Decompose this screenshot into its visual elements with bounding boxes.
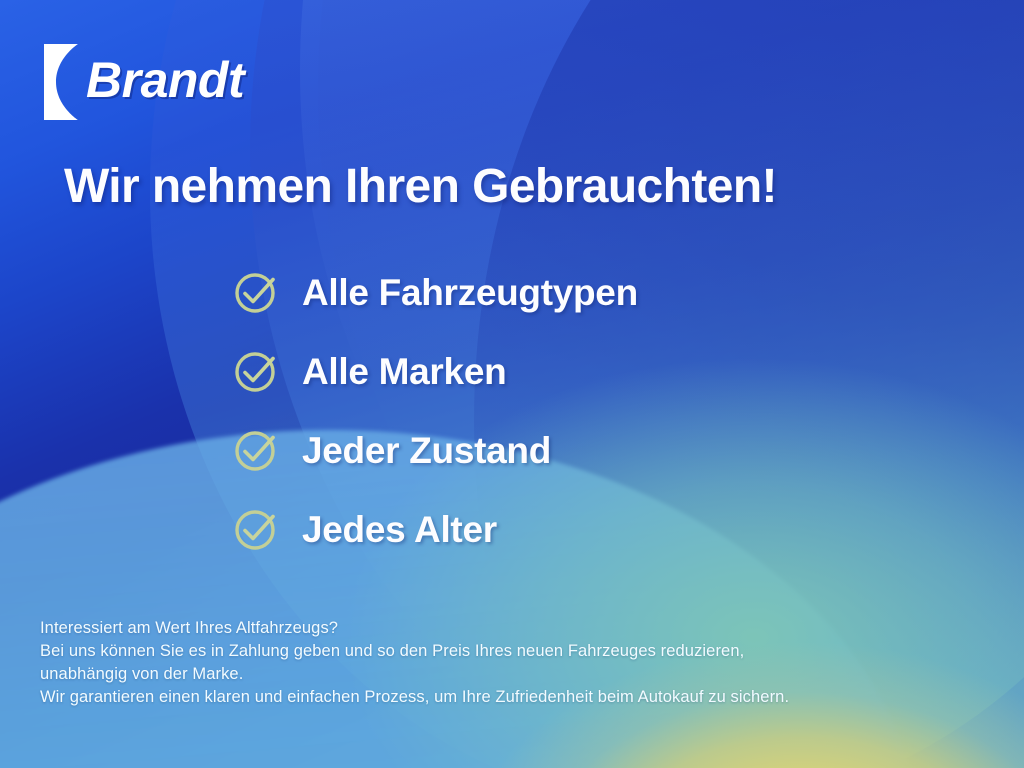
- list-item: Jeder Zustand: [232, 424, 638, 476]
- list-item: Jedes Alter: [232, 503, 638, 555]
- check-circle-icon: [232, 347, 280, 395]
- benefits-list: Alle Fahrzeugtypen Alle Marken Jeder Zus…: [232, 266, 638, 555]
- banner-content: Brandt Wir nehmen Ihren Gebrauchten! All…: [0, 0, 1024, 768]
- page-title: Wir nehmen Ihren Gebrauchten!: [64, 163, 777, 211]
- brand-name: Brandt: [86, 55, 244, 105]
- list-item-label: Alle Marken: [302, 353, 506, 390]
- description-line: unabhängig von der Marke.: [40, 663, 940, 686]
- description-text: Interessiert am Wert Ihres Altfahrzeugs?…: [40, 617, 940, 709]
- brand-logo[interactable]: Brandt: [44, 44, 244, 120]
- check-circle-icon: [232, 268, 280, 316]
- brandt-crescent-mark-icon: [44, 44, 80, 120]
- list-item: Alle Fahrzeugtypen: [232, 266, 638, 318]
- list-item-label: Alle Fahrzeugtypen: [302, 274, 638, 311]
- description-line: Wir garantieren einen klaren und einfach…: [40, 686, 940, 709]
- list-item-label: Jeder Zustand: [302, 432, 551, 469]
- list-item: Alle Marken: [232, 345, 638, 397]
- list-item-label: Jedes Alter: [302, 511, 497, 548]
- check-circle-icon: [232, 505, 280, 553]
- description-line: Bei uns können Sie es in Zahlung geben u…: [40, 640, 940, 663]
- check-circle-icon: [232, 426, 280, 474]
- description-line: Interessiert am Wert Ihres Altfahrzeugs?: [40, 617, 940, 640]
- promo-banner: Brandt Wir nehmen Ihren Gebrauchten! All…: [0, 0, 1024, 768]
